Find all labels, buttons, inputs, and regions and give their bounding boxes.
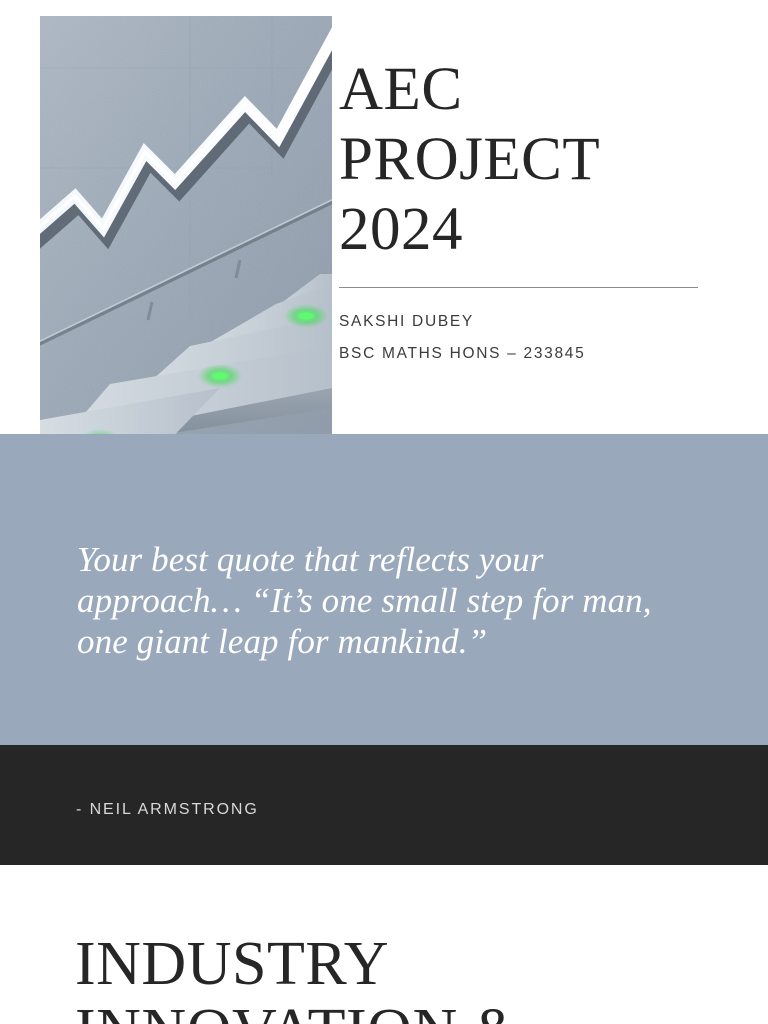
quote-band: Your best quote that reflects your appro…: [0, 434, 768, 745]
quote-slide: Your best quote that reflects your appro…: [0, 434, 768, 865]
quote-text: Your best quote that reflects your appro…: [77, 539, 702, 662]
author-name: SAKSHI DUBEY: [339, 306, 739, 338]
section-slide: INDUSTRY INNOVATION &: [0, 865, 768, 1024]
page-title: AEC PROJECT 2024: [339, 55, 739, 265]
author-detail: BSC MATHS HONS – 233845: [339, 338, 739, 370]
title-slide: AEC PROJECT 2024 SAKSHI DUBEY BSC MATHS …: [0, 0, 768, 434]
hero-photo: [40, 16, 332, 450]
attribution-band: - NEIL ARMSTRONG: [0, 745, 768, 865]
title-divider: [339, 287, 698, 288]
section-heading: INDUSTRY INNOVATION &: [75, 931, 735, 1024]
title-block: AEC PROJECT 2024 SAKSHI DUBEY BSC MATHS …: [339, 55, 739, 370]
quote-attribution: - NEIL ARMSTRONG: [76, 801, 259, 819]
slide-deck: AEC PROJECT 2024 SAKSHI DUBEY BSC MATHS …: [0, 0, 768, 1024]
